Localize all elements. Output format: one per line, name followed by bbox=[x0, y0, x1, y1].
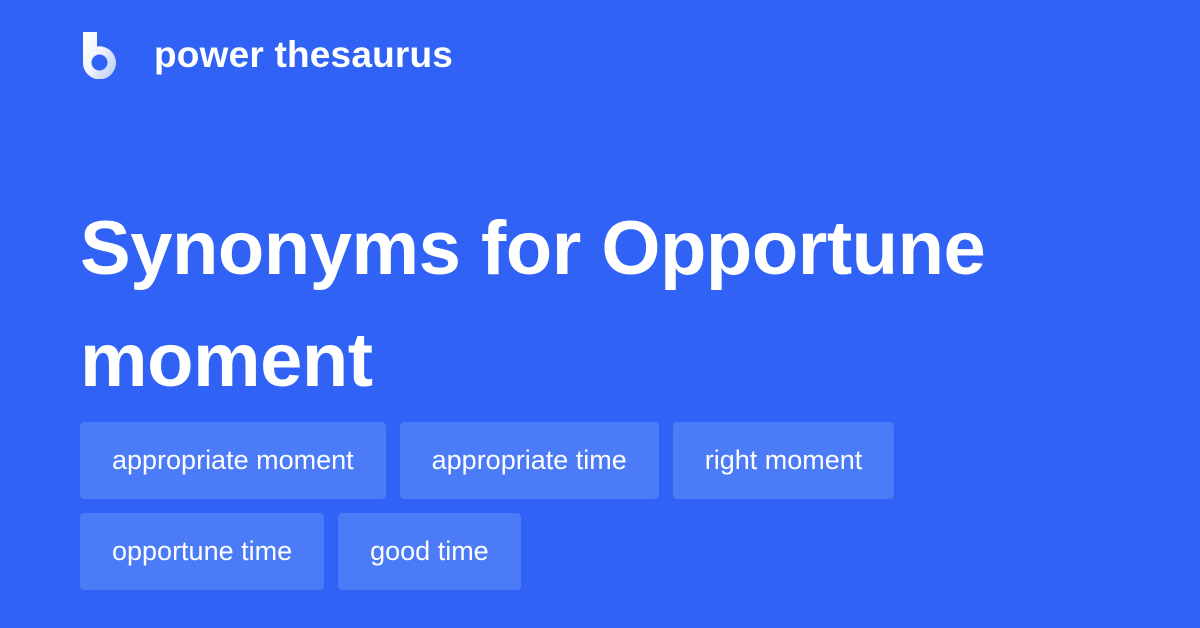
power-thesaurus-b-logo-icon bbox=[80, 29, 130, 79]
page-title-line-2: moment bbox=[80, 305, 1100, 417]
brand-header[interactable]: power thesaurus bbox=[80, 28, 453, 80]
synonym-chip-list: appropriate moment appropriate time righ… bbox=[80, 422, 1120, 590]
synonym-chip[interactable]: right moment bbox=[673, 422, 895, 499]
page-title: Synonyms for Opportune moment bbox=[80, 193, 1100, 418]
synonym-chip[interactable]: appropriate moment bbox=[80, 422, 386, 499]
brand-name: power thesaurus bbox=[154, 36, 453, 73]
page-canvas: power thesaurus Synonyms for Opportune m… bbox=[0, 0, 1200, 628]
synonym-chip[interactable]: opportune time bbox=[80, 513, 324, 590]
page-title-line-1: Synonyms for Opportune bbox=[80, 193, 1100, 305]
synonym-chip[interactable]: good time bbox=[338, 513, 521, 590]
synonym-chip[interactable]: appropriate time bbox=[400, 422, 659, 499]
